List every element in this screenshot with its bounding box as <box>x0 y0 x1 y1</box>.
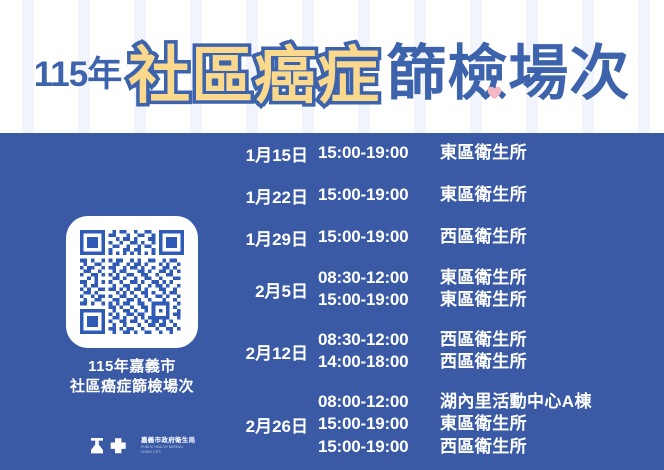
schedule-row: 2月26日08:00-12:00湖內里活動中心A棟15:00-19:00東區衛生… <box>222 391 642 458</box>
agency-sub-en-1: PUBLIC HEALTH BUREAU <box>141 446 195 450</box>
schedule-row: 1月15日15:00-19:00東區衛生所 <box>222 141 642 166</box>
schedule-time: 08:00-12:00 <box>318 391 430 413</box>
schedule-date: 1月29日 <box>222 225 308 250</box>
title-highlight: 社區癌症 <box>128 25 380 115</box>
schedule-place: 西區衛生所 <box>440 226 527 248</box>
schedule-date: 1月22日 <box>222 183 308 208</box>
poster-title: 115年 社區癌症 篩檢場次 <box>0 0 664 133</box>
schedule-place: 東區衛生所 <box>440 142 527 164</box>
schedule-slot: 15:00-19:00西區衛生所 <box>318 226 642 248</box>
schedule-place: 西區衛生所 <box>440 436 527 458</box>
schedule-time: 15:00-19:00 <box>318 184 430 206</box>
schedule-slot: 15:00-19:00東區衛生所 <box>318 142 642 164</box>
schedule-slot: 08:30-12:00東區衛生所 <box>318 267 642 289</box>
footer-logo-text: 嘉義市政府衛生局 PUBLIC HEALTH BUREAU CHIAYI CIT… <box>141 437 195 455</box>
qr-card[interactable] <box>66 216 198 348</box>
schedule-place: 東區衛生所 <box>440 184 527 206</box>
schedule-place: 西區衛生所 <box>440 351 527 373</box>
title-brush: 篩檢場次 <box>386 25 630 112</box>
title-year: 115年 <box>34 46 121 97</box>
schedule-row: 2月5日08:30-12:00東區衛生所15:00-19:00東區衛生所 <box>222 267 642 312</box>
schedule-slots: 15:00-19:00東區衛生所 <box>318 142 642 164</box>
schedule-time: 14:00-18:00 <box>318 351 430 373</box>
schedule-slots: 15:00-19:00東區衛生所 <box>318 184 642 206</box>
poster-canvas: 115年 社區癌症 篩檢場次 <box>0 0 664 470</box>
heart-icon <box>487 86 502 100</box>
schedule-place: 湖內里活動中心A棟 <box>440 391 592 413</box>
schedule-slots: 08:00-12:00湖內里活動中心A棟15:00-19:00東區衛生所15:0… <box>318 391 642 458</box>
agency-name: 嘉義市政府衛生局 <box>141 437 195 444</box>
poster-header: 115年 社區癌症 篩檢場次 <box>0 0 664 133</box>
schedule-slot: 14:00-18:00西區衛生所 <box>318 351 642 373</box>
schedule-time: 08:30-12:00 <box>318 267 430 289</box>
agency-sub-en-2: CHIAYI CITY <box>141 451 195 455</box>
qr-caption-line2: 社區癌症篩檢場次 <box>57 377 207 397</box>
schedule-slot: 15:00-19:00東區衛生所 <box>318 184 642 206</box>
schedule-place: 東區衛生所 <box>440 413 527 435</box>
schedule-date: 1月15日 <box>222 141 308 166</box>
schedule-slot: 08:00-12:00湖內里活動中心A棟 <box>318 391 642 413</box>
schedule-slot: 08:30-12:00西區衛生所 <box>318 329 642 351</box>
schedule-slots: 08:30-12:00西區衛生所14:00-18:00西區衛生所 <box>318 329 642 374</box>
schedule-place: 東區衛生所 <box>440 289 527 311</box>
qr-code-icon[interactable] <box>80 230 184 334</box>
schedule-time: 08:30-12:00 <box>318 329 430 351</box>
schedule-time: 15:00-19:00 <box>318 413 430 435</box>
schedule-time: 15:00-19:00 <box>318 289 430 311</box>
schedule-row: 1月22日15:00-19:00東區衛生所 <box>222 183 642 208</box>
schedule-date: 2月12日 <box>222 339 308 364</box>
footer-logo: 嘉義市政府衛生局 PUBLIC HEALTH BUREAU CHIAYI CIT… <box>88 436 195 456</box>
schedule-date: 2月5日 <box>222 277 308 302</box>
schedule-row: 2月12日08:30-12:00西區衛生所14:00-18:00西區衛生所 <box>222 329 642 374</box>
schedule-time: 15:00-19:00 <box>318 142 430 164</box>
qr-caption-line1: 115年嘉義市 <box>57 357 207 377</box>
schedule-slot: 15:00-19:00東區衛生所 <box>318 289 642 311</box>
qr-caption: 115年嘉義市 社區癌症篩檢場次 <box>57 357 207 398</box>
schedule-time: 15:00-19:00 <box>318 226 430 248</box>
schedule-place: 西區衛生所 <box>440 329 527 351</box>
schedule-slot: 15:00-19:00東區衛生所 <box>318 413 642 435</box>
qr-block: 115年嘉義市 社區癌症篩檢場次 <box>57 216 207 398</box>
schedule-date: 2月26日 <box>222 412 308 437</box>
schedule-row: 1月29日15:00-19:00西區衛生所 <box>222 225 642 250</box>
schedule-time: 15:00-19:00 <box>318 436 430 458</box>
schedule-slots: 15:00-19:00西區衛生所 <box>318 226 642 248</box>
schedule-place: 東區衛生所 <box>440 267 527 289</box>
schedule-panel: 115年嘉義市 社區癌症篩檢場次 1月15日15:00-19:00東區衛生所1月… <box>0 133 664 470</box>
schedule-slot: 15:00-19:00西區衛生所 <box>318 436 642 458</box>
schedule-list: 1月15日15:00-19:00東區衛生所1月22日15:00-19:00東區衛… <box>222 141 642 458</box>
schedule-slots: 08:30-12:00東區衛生所15:00-19:00東區衛生所 <box>318 267 642 312</box>
government-health-bureau-logo-icon <box>88 436 134 456</box>
